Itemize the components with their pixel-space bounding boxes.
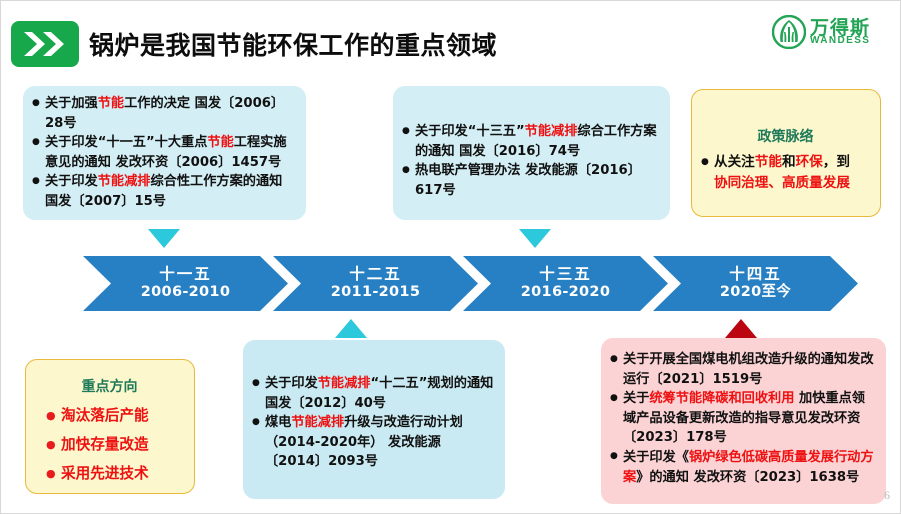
- card-thirteenth-five-year-policies: 关于印发“十三五”节能减排综合工作方案的通知 国发〔2016〕74号热电联产管理…: [393, 86, 670, 220]
- key-direction-item: 采用先进技术: [35, 465, 184, 483]
- policy-list: 关于开展全国煤电机组改造升级的通知发改运行〔2021〕1519号关于统筹节能降碳…: [610, 350, 876, 487]
- timeline-band: 十一五 2006-2010 十二五 2011-2015 十三五 2016-202…: [1, 256, 901, 311]
- policy-item: 关于印发“十三五”节能减排综合工作方案的通知 国发〔2016〕74号: [402, 122, 660, 161]
- policy-item: 关于统筹节能降碳和回收利用 加快重点领域产品设备更新改造的指导意见发改环资〔20…: [610, 389, 876, 448]
- card-key-directions: 重点方向 淘汰落后产能加快存量改造采用先进技术: [25, 359, 195, 494]
- highlighted-term: 协同治理、高质量发展: [714, 175, 850, 191]
- policy-item: 关于印发节能减排综合性工作方案的通知 国发〔2007〕15号: [32, 172, 296, 211]
- policy-list: 关于印发节能减排“十二五”规划的通知 国发〔2012〕40号煤电节能减排升级与改…: [252, 374, 495, 472]
- highlighted-term: 环保: [796, 154, 823, 170]
- highlighted-term: 节能减排: [291, 415, 344, 430]
- card-twelfth-five-year-policies: 关于印发节能减排“十二五”规划的通知 国发〔2012〕40号煤电节能减排升级与改…: [243, 340, 505, 499]
- timeline-phase-4[interactable]: 十四五 2020至今: [653, 256, 858, 311]
- highlighted-term: 节能减排: [318, 376, 371, 391]
- phase-plan-label: 十四五: [729, 266, 782, 283]
- double-chevron-right-glyph: [22, 30, 68, 58]
- phase-years-label: 2016-2020: [521, 283, 610, 301]
- slide-header: 锅炉是我国节能环保工作的重点领域 万得斯 WANDESS: [1, 1, 901, 77]
- policy-item: 从关注节能和环保，到协同治理、高质量发展: [701, 152, 870, 194]
- policy-text: ，到: [823, 154, 850, 170]
- timeline-phase-1[interactable]: 十一五 2006-2010: [83, 256, 288, 311]
- phase-plan-label: 十三五: [539, 266, 592, 283]
- policy-item: 关于印发《锅炉绿色低碳高质量发展行动方案》的通知 发改环资〔2023〕1638号: [610, 448, 876, 487]
- slide-canvas: 锅炉是我国节能环保工作的重点领域 万得斯 WANDESS 关于加强节能工作的决定…: [0, 0, 901, 514]
- policy-text: 从关注: [714, 154, 755, 170]
- connector-triangle-up: [335, 319, 367, 338]
- connector-triangle-up-red: [725, 319, 757, 338]
- policy-item: 关于印发节能减排“十二五”规划的通知 国发〔2012〕40号: [252, 374, 495, 413]
- leaf-plant-logo-icon: [772, 15, 806, 49]
- highlighted-term: 节能减排: [525, 124, 578, 139]
- policy-text: 关于印发《: [623, 450, 689, 465]
- connector-triangle-down: [148, 229, 180, 248]
- card-eleventh-five-year-policies: 关于加强节能工作的决定 国发〔2006〕28号关于印发“十一五”十大重点节能工程…: [23, 86, 306, 220]
- card-fourteenth-five-year-policies: 关于开展全国煤电机组改造升级的通知发改运行〔2021〕1519号关于统筹节能降碳…: [601, 338, 886, 504]
- page-number: 6: [884, 488, 890, 503]
- highlighted-term: 节能: [98, 96, 124, 111]
- highlighted-term: 节能减排: [98, 174, 151, 189]
- key-direction-item: 加快存量改造: [35, 436, 184, 454]
- timeline-phase-3[interactable]: 十三五 2016-2020: [463, 256, 668, 311]
- phase-plan-label: 十一五: [159, 266, 212, 283]
- highlighted-term: 节能: [207, 135, 233, 150]
- policy-list: 关于印发“十三五”节能减排综合工作方案的通知 国发〔2016〕74号热电联产管理…: [402, 122, 660, 200]
- key-direction-list: 淘汰落后产能加快存量改造采用先进技术: [35, 407, 184, 483]
- phase-years-label: 2020至今: [720, 283, 791, 301]
- card-policy-context: 政策脉络 从关注节能和环保，到协同治理、高质量发展: [691, 89, 881, 217]
- policy-text: 关于印发: [45, 174, 98, 189]
- logo-text-en: WANDESS: [810, 35, 870, 46]
- policy-text: 热电联产管理办法 发改能源〔2016〕617号: [415, 163, 641, 198]
- card-heading: 重点方向: [35, 376, 184, 396]
- policy-text: 煤电: [265, 415, 291, 430]
- phase-plan-label: 十二五: [349, 266, 402, 283]
- policy-text: 关于印发“十一五”十大重点: [45, 135, 207, 150]
- highlighted-term: 节能: [755, 154, 782, 170]
- phase-years-label: 2011-2015: [331, 283, 420, 301]
- policy-text: 关于: [623, 391, 649, 406]
- policy-text: 关于加强: [45, 96, 98, 111]
- policy-item: 煤电节能减排升级与改造行动计划（2014-2020年） 发改能源〔2014〕20…: [252, 413, 495, 472]
- timeline-phase-2[interactable]: 十二五 2011-2015: [273, 256, 478, 311]
- page-title: 锅炉是我国节能环保工作的重点领域: [89, 26, 497, 62]
- double-chevron-right-icon: [11, 21, 79, 67]
- highlighted-term: 统筹节能降碳和回收利用: [649, 391, 794, 406]
- policy-text: 关于印发: [265, 376, 318, 391]
- policy-text: 和: [782, 154, 796, 170]
- company-logo: 万得斯 WANDESS: [772, 11, 890, 53]
- policy-list: 从关注节能和环保，到协同治理、高质量发展: [701, 152, 870, 194]
- policy-text: 》的通知 发改环资〔2023〕1638号: [636, 470, 859, 485]
- connector-triangle-down: [519, 229, 551, 248]
- card-heading: 政策脉络: [701, 126, 870, 146]
- policy-item: 关于印发“十一五”十大重点节能工程实施意见的通知 发改环资〔2006〕1457号: [32, 133, 296, 172]
- policy-item: 关于开展全国煤电机组改造升级的通知发改运行〔2021〕1519号: [610, 350, 876, 389]
- policy-text: 关于印发“十三五”: [415, 124, 525, 139]
- policy-item: 关于加强节能工作的决定 国发〔2006〕28号: [32, 94, 296, 133]
- policy-list: 关于加强节能工作的决定 国发〔2006〕28号关于印发“十一五”十大重点节能工程…: [32, 94, 296, 212]
- phase-years-label: 2006-2010: [141, 283, 230, 301]
- policy-text: 关于开展全国煤电机组改造升级的通知发改运行〔2021〕1519号: [623, 352, 874, 387]
- policy-item: 热电联产管理办法 发改能源〔2016〕617号: [402, 161, 660, 200]
- key-direction-item: 淘汰落后产能: [35, 407, 184, 425]
